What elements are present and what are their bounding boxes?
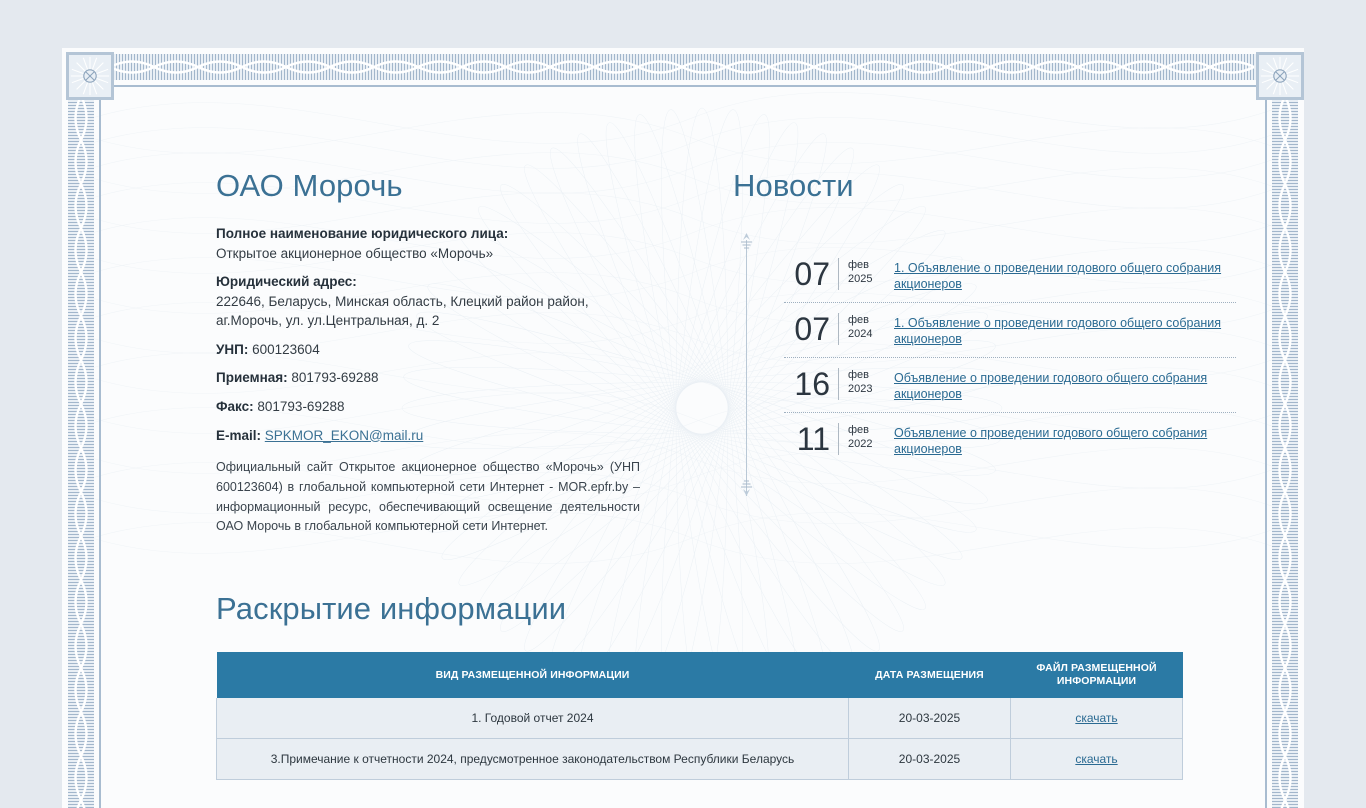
divider-ornament-bottom [740,478,753,496]
field-unp: УНП: 600123604 [216,340,640,360]
page-title: ОАО Морочь [216,168,403,204]
news-day: 07 [784,258,839,290]
news-link[interactable]: Объявление о проведении годового общего … [882,423,1236,457]
field-email: E-mail: SPKMOR_EKON@mail.ru [216,426,640,446]
news-month: фев [848,368,882,382]
news-month-year: фев 2023 [839,368,882,396]
news-year: 2024 [848,327,882,341]
company-info-block: Полное наименование юридического лица: О… [216,224,640,537]
news-section-title: Новости [733,168,854,204]
fax-value: 801793-69288 [257,399,344,414]
news-item[interactable]: 16 фев 2023 Объявление о проведении годо… [784,357,1236,412]
news-list: 07 фев 2025 1. Объявление о проведении г… [784,248,1236,467]
field-legal-address: Юридический адрес: 222646, Беларусь, Мин… [216,272,640,331]
news-item[interactable]: 07 фев 2025 1. Объявление о проведении г… [784,248,1236,302]
cell-type: 3.Примечание к отчетности 2024, предусмо… [217,739,849,780]
news-item[interactable]: 11 фев 2022 Объявление о проведении годо… [784,412,1236,467]
unp-value: 600123604 [252,342,320,357]
field-fax: Факс: 801793-69288 [216,397,640,417]
table-row: 3.Примечание к отчетности 2024, предусмо… [217,739,1183,780]
download-link[interactable]: скачать [1075,752,1117,766]
news-year: 2023 [848,382,882,396]
cell-date: 20-03-2025 [849,739,1011,780]
full-name-value: Открытое акционерное общество «Морочь» [216,246,493,261]
field-reception: Приемная: 801793-69288 [216,368,640,388]
certificate-sheet: ОАО Морочь Полное наименование юридическ… [62,48,1304,808]
reception-value: 801793-69288 [291,370,378,385]
news-day: 11 [784,423,839,455]
table-row: 1. Годовой отчет 2024 20-03-2025 скачать [217,698,1183,739]
cell-file: скачать [1011,698,1183,739]
download-link[interactable]: скачать [1075,711,1117,725]
disclosure-table-head: ВИД РАЗМЕЩЕННОЙ ИНФОРМАЦИИ ДАТА РАЗМЕЩЕН… [217,652,1183,698]
news-year: 2022 [848,437,882,451]
cell-type: 1. Годовой отчет 2024 [217,698,849,739]
news-month-year: фев 2025 [839,258,882,286]
address-value: 222646, Беларусь, Минская область, Клецк… [216,294,589,329]
disclosure-section-title: Раскрытие информации [216,591,566,627]
field-full-name: Полное наименование юридического лица: О… [216,224,640,263]
fax-label: Факс: [216,399,254,414]
vertical-divider [746,240,747,496]
full-name-label: Полное наименование юридического лица: [216,224,640,244]
column-header-file: ФАЙЛ РАЗМЕЩЕННОЙ ИНФОРМАЦИИ [1011,652,1183,698]
disclosure-header-row: ВИД РАЗМЕЩЕННОЙ ИНФОРМАЦИИ ДАТА РАЗМЕЩЕН… [217,652,1183,698]
email-label: E-mail: [216,428,261,443]
disclosure-table: ВИД РАЗМЕЩЕННОЙ ИНФОРМАЦИИ ДАТА РАЗМЕЩЕН… [216,652,1183,780]
disclosure-table-wrapper: ВИД РАЗМЕЩЕННОЙ ИНФОРМАЦИИ ДАТА РАЗМЕЩЕН… [216,652,1146,780]
news-month-year: фев 2022 [839,423,882,451]
news-month-year: фев 2024 [839,313,882,341]
about-paragraph: Официальный сайт Открытое акционерное об… [216,458,640,537]
unp-label: УНП: [216,342,248,357]
column-header-type: ВИД РАЗМЕЩЕННОЙ ИНФОРМАЦИИ [217,652,849,698]
news-item[interactable]: 07 фев 2024 1. Объявление о проведении г… [784,302,1236,357]
divider-ornament-top [740,233,753,251]
reception-label: Приемная: [216,370,288,385]
address-label: Юридический адрес: [216,272,640,292]
column-header-date: ДАТА РАЗМЕЩЕНИЯ [849,652,1011,698]
news-link[interactable]: 1. Объявление о проведении годового обще… [882,258,1236,292]
news-link[interactable]: 1. Объявление о проведении годового обще… [882,313,1236,347]
news-month: фев [848,313,882,327]
news-day: 16 [784,368,839,400]
news-month: фев [848,258,882,272]
news-year: 2025 [848,272,882,286]
cell-file: скачать [1011,739,1183,780]
email-link[interactable]: SPKMOR_EKON@mail.ru [265,428,424,443]
news-month: фев [848,423,882,437]
cell-date: 20-03-2025 [849,698,1011,739]
news-day: 07 [784,313,839,345]
news-link[interactable]: Объявление о проведении годового общего … [882,368,1236,402]
